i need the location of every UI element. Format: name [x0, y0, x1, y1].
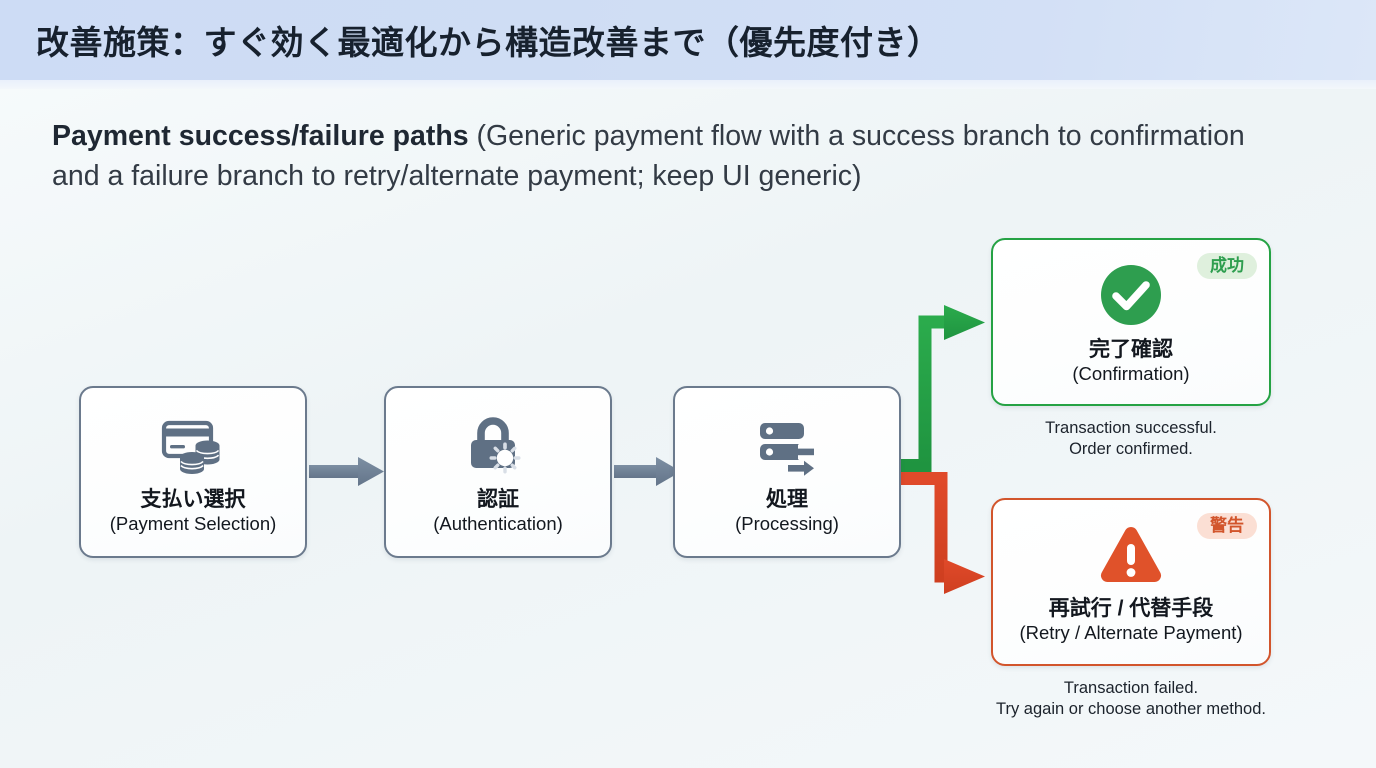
node-confirmation[interactable]: 成功 完了確認 (Confirmation) — [991, 238, 1271, 406]
slide-canvas: 改善施策：すぐ効く最適化から構造改善まで（優先度付き） Payment succ… — [0, 0, 1376, 768]
node-label-en: (Processing) — [735, 513, 839, 535]
node-label-en: (Retry / Alternate Payment) — [1019, 622, 1242, 644]
server-exchange-icon — [752, 415, 822, 482]
credit-card-coins-icon — [158, 415, 228, 482]
caption-confirmation: Transaction successful. Order confirmed. — [941, 418, 1321, 460]
check-circle-icon — [1099, 263, 1163, 332]
connector-auth-to-processing — [614, 457, 681, 486]
status-badge-warning: 警告 — [1197, 513, 1257, 539]
node-authentication[interactable]: 認証 (Authentication) — [384, 386, 612, 558]
connector-payment-to-auth — [309, 457, 384, 486]
status-badge-success: 成功 — [1197, 253, 1257, 279]
lock-spinner-icon — [463, 415, 533, 482]
node-label-jp: 完了確認 — [1089, 338, 1173, 362]
node-label-jp: 認証 — [477, 488, 519, 512]
node-payment-selection[interactable]: 支払い選択 (Payment Selection) — [79, 386, 307, 558]
diagram-canvas: 支払い選択 (Payment Selection) — [0, 0, 1376, 768]
node-retry-alternate[interactable]: 警告 再試行 / 代替手段 (Retry / Alternate Payment… — [991, 498, 1271, 666]
node-label-en: (Authentication) — [433, 513, 563, 535]
connector-processing-to-retry — [901, 479, 985, 595]
node-label-jp: 支払い選択 — [141, 488, 246, 512]
node-label-jp: 再試行 / 代替手段 — [1049, 597, 1214, 621]
node-label-en: (Payment Selection) — [110, 513, 277, 535]
node-processing[interactable]: 処理 (Processing) — [673, 386, 901, 558]
node-label-en: (Confirmation) — [1072, 363, 1189, 385]
caption-retry-alternate: Transaction failed. Try again or choose … — [941, 678, 1321, 720]
warning-triangle-icon — [1098, 524, 1164, 591]
node-label-jp: 処理 — [766, 488, 808, 512]
